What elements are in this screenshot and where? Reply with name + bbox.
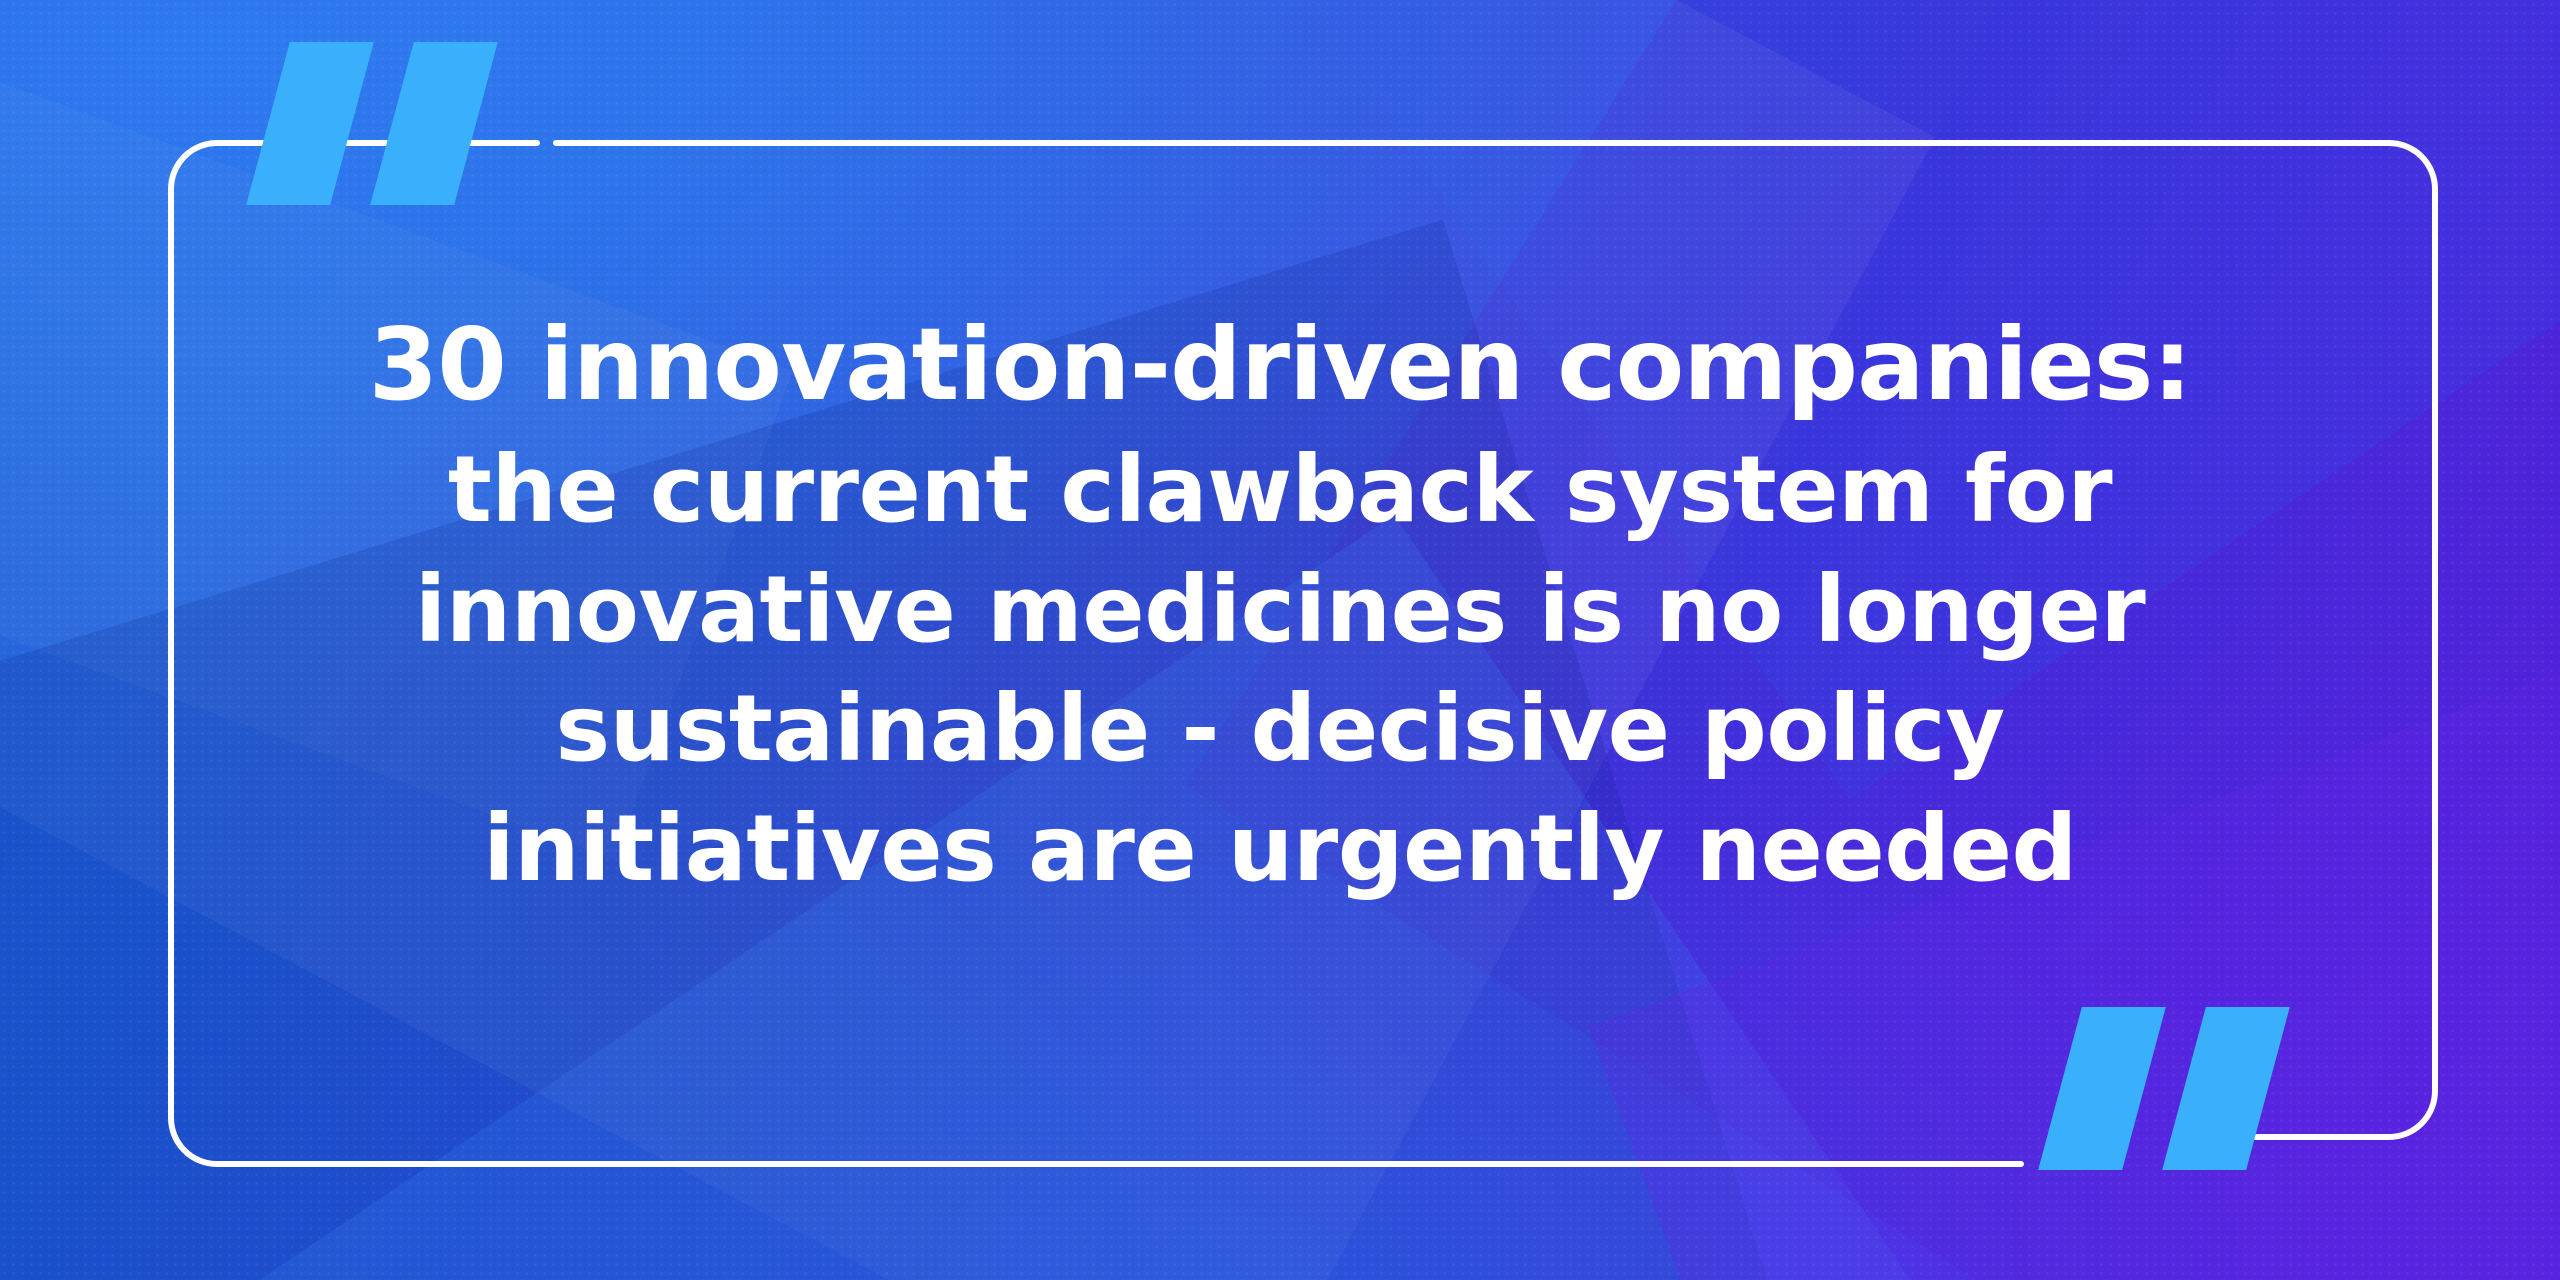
headline-block: 30 innovation-driven companies: the curr… <box>190 300 2370 908</box>
frame-border-line-bottom-left <box>171 1118 2021 1164</box>
headline-line-5: initiatives are urgently needed <box>190 789 2370 909</box>
headline-line-1: 30 innovation-driven companies: <box>190 300 2370 430</box>
closing-quote-mark <box>2060 1007 2268 1170</box>
opening-quote-mark <box>268 42 476 205</box>
quote-card-graphic: 30 innovation-driven companies: the curr… <box>0 0 2560 1280</box>
page-title: 30 innovation-driven companies: the curr… <box>190 300 2370 908</box>
headline-line-3: innovative medicines is no longer <box>190 550 2370 670</box>
headline-line-4: sustainable - decisive policy <box>190 669 2370 789</box>
headline-line-2: the current clawback system for <box>190 430 2370 550</box>
